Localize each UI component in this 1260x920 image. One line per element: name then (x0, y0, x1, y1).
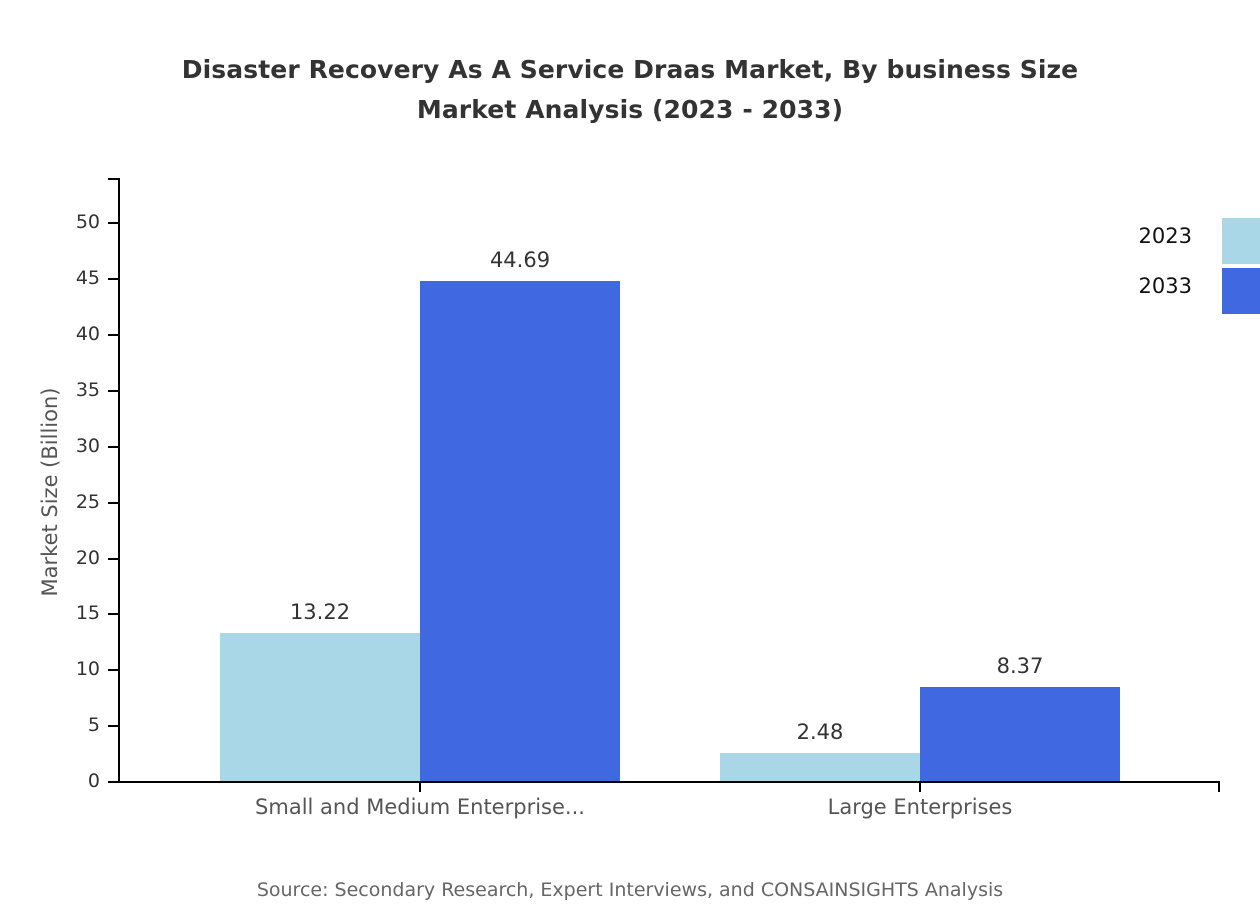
chart-title-line-2: Market Analysis (2023 - 2033) (0, 90, 1260, 130)
legend-label-2033: 2033 (1072, 276, 1192, 297)
bar-large-enterprises-2033[interactable] (920, 687, 1120, 781)
bar-value-label-smes-2033: 44.69 (420, 250, 620, 271)
x-tick-label-smes: Small and Medium Enterprise... (190, 794, 650, 820)
source-note: Source: Secondary Research, Expert Inter… (0, 879, 1260, 901)
x-axis-right-cap (1218, 781, 1220, 792)
x-tick-label-large-enterprises: Large Enterprises (690, 794, 1150, 820)
bar-value-label-large-2023: 2.48 (720, 722, 920, 743)
bar-value-label-large-2033: 8.37 (920, 656, 1120, 677)
chart-title: Disaster Recovery As A Service Draas Mar… (0, 50, 1260, 130)
legend-item-2033[interactable]: 2033 (1080, 268, 1260, 318)
x-axis-spine (118, 781, 1220, 783)
x-tick-large-enterprises (919, 781, 921, 792)
x-tick-smes (419, 781, 421, 792)
bar-chart: Disaster Recovery As A Service Draas Mar… (0, 0, 1260, 920)
legend-swatch-2023 (1222, 218, 1260, 264)
legend-item-2023[interactable]: 2023 (1080, 218, 1260, 268)
bar-value-label-smes-2023: 13.22 (220, 602, 420, 623)
bars-layer (0, 178, 1260, 781)
legend: 2023 2033 (1080, 218, 1260, 318)
bar-large-enterprises-2023[interactable] (720, 753, 920, 781)
bar-smes-2033[interactable] (420, 281, 620, 781)
y-tick-0 (108, 781, 120, 783)
legend-swatch-2033 (1222, 268, 1260, 314)
bar-smes-2023[interactable] (220, 633, 420, 781)
legend-label-2023: 2023 (1072, 226, 1192, 247)
chart-title-line-1: Disaster Recovery As A Service Draas Mar… (182, 55, 1078, 84)
